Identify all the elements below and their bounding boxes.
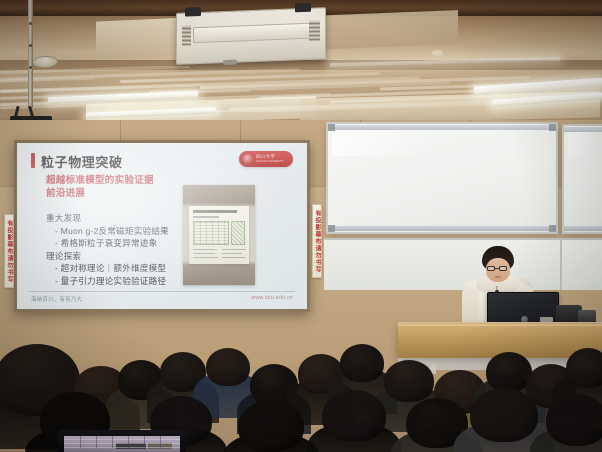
wall-sign-left-text: 有投影幕布请勿书写 xyxy=(5,220,13,283)
laptop-screen-column xyxy=(80,436,81,448)
document-text-line xyxy=(193,249,217,250)
laptop-screen-column xyxy=(144,436,145,448)
audience-member-head xyxy=(238,400,304,452)
laptop-screen-row xyxy=(64,447,180,448)
air-conditioner-unit xyxy=(176,7,326,65)
ac-sensor xyxy=(223,60,237,66)
foreground-laptop[interactable] xyxy=(58,430,186,452)
slide-subtitle-line2: 前沿进展 xyxy=(46,187,154,200)
wall-sign-right: 有投影幕布请勿书写 xyxy=(312,204,322,278)
pole-bolt xyxy=(29,44,32,47)
document-text-line xyxy=(222,257,245,258)
ac-vent xyxy=(182,25,191,45)
wall-sign-right-text: 有投影幕布请勿书写 xyxy=(313,210,321,273)
slide-title: 粒子物理突破 xyxy=(41,152,123,171)
whiteboard-corner xyxy=(549,225,556,232)
glasses-icon xyxy=(487,266,495,271)
slide-bullet: 理论探索 xyxy=(46,250,169,263)
glasses-icon xyxy=(499,266,507,271)
slide-body-text: 重大发现 - Muon g-2反常磁矩实验结果 - 希格斯粒子衰变异常迹象 理论… xyxy=(46,212,169,288)
laptop-screen-column xyxy=(112,436,113,448)
laptop-screen-column xyxy=(160,436,161,448)
audience-member-head xyxy=(546,394,602,446)
lecture-hall-photo: EPSON 粒子物理突破 超越标准模型的实验证据 前沿进展 重大发现 - Muo… xyxy=(0,0,602,452)
audience-member-head xyxy=(322,390,386,442)
university-logo-text: 四川大学 SICHUAN UNIVERSITY xyxy=(256,154,284,164)
audience-member-head xyxy=(206,348,250,386)
slide-bullet: - Muon g-2反常磁矩实验结果 xyxy=(46,225,169,238)
slide-footer-divider xyxy=(29,291,295,292)
ac-mount-bracket xyxy=(295,3,311,13)
glasses-bridge xyxy=(495,268,499,269)
foreground-laptop-screen[interactable] xyxy=(64,436,180,452)
laptop-screen-row xyxy=(64,443,180,444)
document-subheading-line xyxy=(193,216,219,218)
wall-sign-left: 有投影幕布请勿书写 xyxy=(4,214,14,288)
whiteboard-corner xyxy=(328,225,335,232)
pole-bolt xyxy=(29,66,32,69)
whiteboard-divider xyxy=(560,238,562,290)
smoke-detector-icon xyxy=(432,50,443,56)
ac-mount-bracket xyxy=(185,7,201,17)
whiteboard-left xyxy=(326,122,558,234)
document-text-line xyxy=(193,257,218,258)
document-data-table xyxy=(193,221,229,245)
document-text-line xyxy=(193,253,215,254)
whiteboard-right xyxy=(562,124,602,234)
pole-bolt xyxy=(29,22,32,25)
document-text-line xyxy=(222,249,246,250)
slide-bullet: 重大发现 xyxy=(46,212,169,225)
slide-bullet: - 超对称理论｜额外维度模型 xyxy=(46,262,169,275)
document-plot xyxy=(231,221,245,245)
slide-bullet: - 量子引力理论实验验证路径 xyxy=(46,275,169,288)
projection-screen: 粒子物理突破 超越标准模型的实验证据 前沿进展 重大发现 - Muon g-2反… xyxy=(14,140,310,312)
presenter-mouth xyxy=(495,276,501,278)
title-accent-bar xyxy=(31,153,35,168)
ac-grille xyxy=(193,23,311,44)
presentation-slide: 粒子物理突破 超越标准模型的实验证据 前沿进展 重大发现 - Muon g-2反… xyxy=(17,143,307,309)
audience-member-head xyxy=(470,388,538,442)
university-logo: 四川大学 SICHUAN UNIVERSITY xyxy=(239,151,293,167)
audience-member-head xyxy=(384,360,434,402)
slide-subtitle: 超越标准模型的实验证据 前沿进展 xyxy=(46,174,154,200)
ceiling-support-pole xyxy=(28,0,33,108)
ac-vent xyxy=(309,20,320,40)
whiteboard-corner xyxy=(328,124,335,131)
whiteboard-glare xyxy=(568,132,591,157)
whiteboard-rail xyxy=(328,125,556,130)
whiteboard-rail xyxy=(564,127,602,132)
slide-bullet: - 希格斯粒子衰变异常迹象 xyxy=(46,237,169,250)
embedded-document xyxy=(189,206,249,264)
document-text-line xyxy=(222,253,242,254)
whiteboard-corner xyxy=(549,124,556,131)
slide-subtitle-line1: 超越标准模型的实验证据 xyxy=(46,174,154,187)
laptop-screen-column xyxy=(128,436,129,448)
slide-embedded-photo xyxy=(183,185,255,285)
whiteboard-rail xyxy=(328,226,556,231)
university-seal-icon xyxy=(243,154,253,164)
laptop-screen-row xyxy=(64,439,180,440)
university-name-en: SICHUAN UNIVERSITY xyxy=(256,159,284,164)
document-heading-line xyxy=(193,210,237,213)
laptop-screen-column xyxy=(96,436,97,448)
slide-footer-motto: 海纳百川，有容乃大 xyxy=(31,295,82,303)
audience-member-head xyxy=(566,348,602,388)
whiteboard-glare xyxy=(332,130,437,156)
slide-footer-url: www.scu.edu.cn xyxy=(251,295,293,301)
whiteboard-rail xyxy=(564,226,602,231)
audience-member-head xyxy=(340,344,384,382)
